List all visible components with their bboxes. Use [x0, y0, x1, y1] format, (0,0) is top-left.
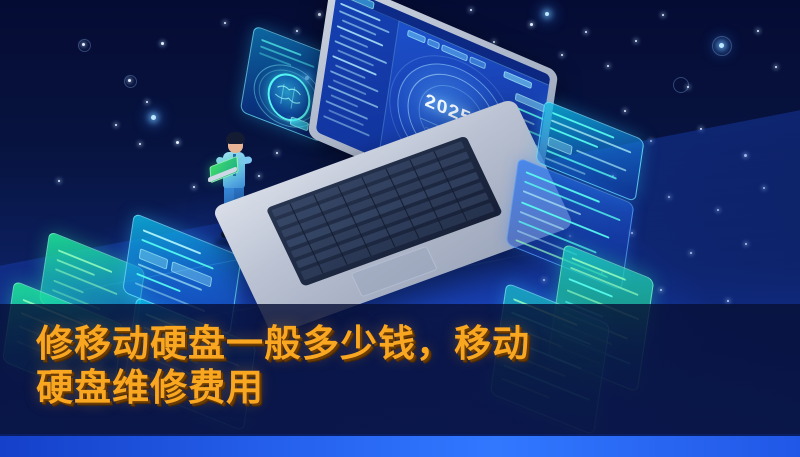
banner-image: 2025 — [0, 0, 800, 457]
page-title: 修移动硬盘一般多少钱，移动硬盘维修费用 — [36, 322, 780, 409]
headline-line-2: 硬盘维修费用 — [36, 366, 264, 409]
headline-line-1: 修移动硬盘一般多少钱，移动 — [36, 322, 530, 365]
bottom-accent-bar — [0, 434, 800, 457]
